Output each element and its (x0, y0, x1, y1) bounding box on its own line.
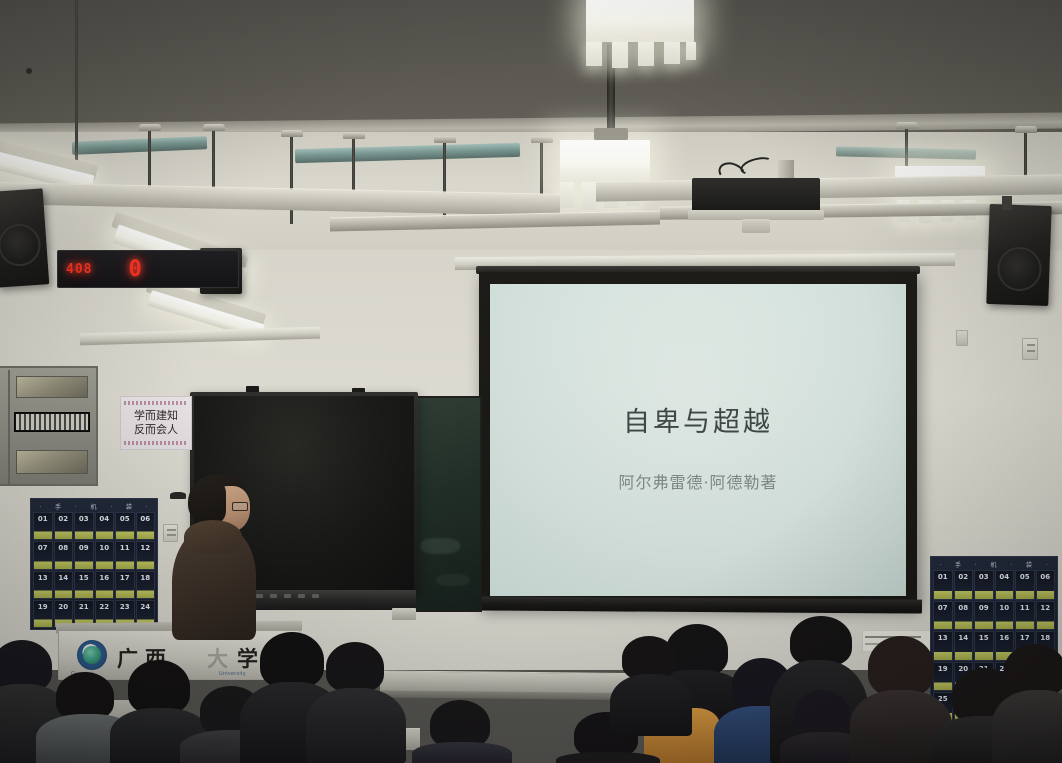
rack-header-char: 机 (90, 502, 97, 511)
electrical-distribution-cabinet[interactable] (0, 366, 98, 486)
phone-pocket[interactable]: 01 (33, 512, 53, 540)
phone-pocket[interactable]: 15 (974, 631, 994, 661)
rack-header-char: · (975, 562, 978, 568)
phone-pocket[interactable]: 12 (136, 541, 156, 569)
rod-ceiling-cap (139, 124, 161, 131)
phone-pocket[interactable]: 07 (933, 601, 953, 631)
phone-pocket[interactable]: 03 (974, 570, 994, 600)
phone-pocket[interactable]: 08 (54, 541, 74, 569)
wall-calligraphy-poster: 学而建知 反而会人 (120, 396, 192, 450)
seated-student (418, 700, 506, 763)
seated-student (614, 636, 686, 732)
phone-pocket[interactable]: 10 (95, 541, 115, 569)
phone-pocket-rack-left: · 手 · 机 · 袋 · 01020304050607080910111213… (30, 498, 158, 630)
panel-button[interactable] (284, 594, 291, 598)
phone-pocket[interactable]: 04 (995, 570, 1015, 600)
phone-pocket[interactable]: 05 (115, 512, 135, 540)
led-segment-left: 408 (66, 262, 92, 277)
panel-button[interactable] (270, 594, 277, 598)
phone-pocket[interactable]: 15 (74, 571, 94, 599)
rack-header-char: 机 (990, 560, 997, 569)
phone-pocket[interactable]: 07 (33, 541, 53, 569)
rack-header-char: 手 (955, 560, 962, 569)
suspension-rod (75, 0, 78, 172)
speaker-bracket (1002, 196, 1012, 210)
phone-pocket[interactable]: 18 (136, 571, 156, 599)
panel-logo-plate (392, 608, 416, 620)
phone-pocket[interactable]: 09 (974, 601, 994, 631)
phone-pocket[interactable]: 13 (33, 571, 53, 599)
rack-header-char: · (75, 504, 78, 510)
university-emblem-icon (77, 640, 107, 670)
phone-pocket[interactable]: 04 (95, 512, 115, 540)
slide-author: 阿尔弗雷德·阿德勒著 (490, 469, 906, 493)
presenter-hair-back (188, 480, 226, 524)
wall-speaker-left (0, 188, 49, 287)
phone-pocket[interactable]: 06 (136, 512, 156, 540)
phone-pocket[interactable]: 09 (74, 541, 94, 569)
rod-ceiling-cap (531, 136, 553, 143)
suspension-rod (290, 134, 293, 224)
phone-pocket[interactable]: 17 (115, 571, 135, 599)
rod-ceiling-cap (434, 136, 456, 143)
led-digital-display: 408 0 (57, 250, 239, 288)
poster-line-2: 反而会人 (121, 424, 191, 436)
projection-screen-surface: 自卑与超越 阿尔弗雷德·阿德勒著 (490, 284, 906, 596)
seated-student (1000, 644, 1062, 763)
phone-pocket[interactable]: 02 (54, 512, 74, 540)
rack-header-right: · 手 · 机 · 袋 · (933, 559, 1055, 570)
wall-speaker-right (986, 204, 1051, 306)
cabinet-window (16, 376, 88, 398)
presenter-at-front (160, 470, 270, 640)
led-segment-right: 0 (128, 257, 142, 282)
slide-title: 自卑与超越 (490, 400, 906, 439)
poster-line-1: 学而建知 (121, 410, 191, 422)
presenter-hood-collar (184, 520, 242, 554)
phone-pocket[interactable]: 14 (54, 571, 74, 599)
phone-pocket[interactable]: 10 (995, 601, 1015, 631)
cabinet-door-seam (8, 370, 10, 486)
rack-header-char: · (1010, 562, 1013, 568)
rod-ceiling-cap (203, 124, 225, 131)
rod-ceiling-cap (896, 122, 918, 129)
wall-socket[interactable] (1022, 338, 1038, 360)
ceiling-fixture-dot (26, 68, 32, 74)
banner-subtitle-right: University (219, 671, 246, 677)
banner-char: 大 (207, 643, 228, 673)
phone-pocket[interactable]: 14 (954, 631, 974, 661)
suspension-rod (1024, 130, 1027, 176)
panel-button[interactable] (298, 594, 305, 598)
phone-pocket[interactable]: 03 (74, 512, 94, 540)
rod-ceiling-cap (281, 130, 303, 137)
glasses-icon (232, 502, 248, 511)
rack-header-left: · 手 · 机 · 袋 · (33, 501, 155, 512)
rack-header-char: · (1046, 562, 1049, 568)
rack-header-char: · (939, 562, 942, 568)
phone-pocket[interactable]: 16 (95, 571, 115, 599)
phone-pocket[interactable]: 11 (1015, 601, 1035, 631)
projector-stem (742, 219, 770, 233)
rack-header-char: · (146, 504, 149, 510)
phone-pocket[interactable]: 08 (954, 601, 974, 631)
cabinet-window (16, 450, 88, 474)
rack-header-char: · (110, 504, 113, 510)
classroom-photo: 408 0 自卑与超越 阿尔弗雷德·阿德勒著 (0, 0, 1062, 763)
rack-header-char: 袋 (1026, 560, 1033, 569)
rod-ceiling-cap (1015, 126, 1037, 133)
rod-ceiling-cap (343, 132, 365, 139)
phone-pocket[interactable]: 02 (954, 570, 974, 600)
cabinet-meter (14, 412, 90, 432)
rack-pocket-grid-left: 0102030405060708091011121314151617181920… (33, 512, 155, 628)
projection-screen: 自卑与超越 阿尔弗雷德·阿德勒著 (479, 272, 917, 608)
phone-pocket[interactable]: 11 (115, 541, 135, 569)
panel-button[interactable] (312, 594, 319, 598)
phone-pocket[interactable]: 01 (933, 570, 953, 600)
rack-header-char: · (39, 504, 42, 510)
rack-header-char: 袋 (126, 502, 133, 511)
ceiling-projector (692, 178, 820, 212)
seated-student (316, 642, 396, 763)
phone-pocket[interactable]: 19 (33, 600, 53, 628)
phone-pocket[interactable]: 05 (1015, 570, 1035, 600)
phone-pocket[interactable]: 12 (1036, 601, 1056, 631)
wall-switch[interactable] (956, 330, 968, 346)
phone-pocket[interactable]: 06 (1036, 570, 1056, 600)
rack-header-char: 手 (55, 502, 62, 511)
